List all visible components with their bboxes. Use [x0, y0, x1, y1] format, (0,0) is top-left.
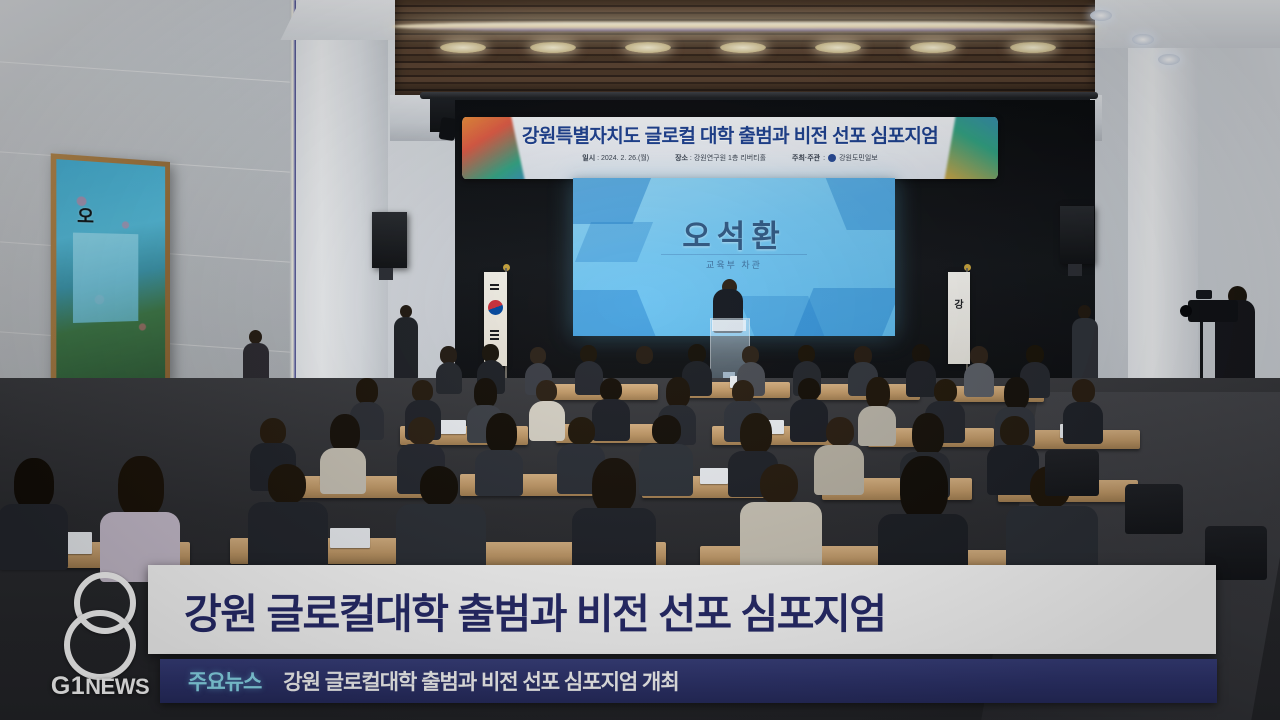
- ticker-headline: 강원 글로컬대학 출범과 비전 선포 심포지엄 개최: [283, 666, 678, 696]
- downlight-row: [420, 42, 1080, 56]
- channel-number-8-icon: [56, 572, 142, 670]
- artwork-light-panel: [72, 232, 138, 322]
- screen-divider: [661, 254, 807, 255]
- banner-date-value: 2024. 2. 26.(월): [601, 155, 649, 162]
- taeguk-icon: [488, 300, 503, 315]
- banner-date: 일시 : 2024. 2. 26.(월): [582, 153, 649, 163]
- ticker-category-label: 주요뉴스: [160, 666, 283, 696]
- wordmark-g1: G1: [51, 672, 85, 700]
- lectern-nameplate: [712, 320, 746, 331]
- banner-place: 장소 : 강원연구원 1층 리버티홀: [675, 153, 766, 163]
- ceiling-spotlights-right: [1080, 8, 1280, 68]
- audience-people-row-front: [0, 452, 1100, 582]
- broadcast-frame: 강원특별자치도 글로컬 대학 출범과 비전 선포 심포지엄 일시 : 2024.…: [0, 0, 1280, 720]
- wall-artwork-frame: 오: [51, 153, 170, 392]
- ceiling-cove-light: [392, 22, 1098, 31]
- banner-date-label: 일시: [582, 155, 595, 162]
- network-logo: G1NEWS: [44, 572, 156, 714]
- network-wordmark: G1NEWS: [44, 672, 156, 701]
- banner-host-label: 주최·주관: [792, 153, 820, 163]
- wall-speaker-left: [372, 212, 407, 268]
- banner-place-label: 장소: [675, 155, 688, 162]
- headline-lower-third: 강원 글로컬대학 출범과 비전 선포 심포지엄: [148, 565, 1216, 654]
- screen-speaker-role: 교육부 차관: [573, 258, 895, 271]
- wall-speaker-bracket-right: [1068, 264, 1082, 276]
- province-emblem-icon: 강: [952, 298, 966, 314]
- banner-host-value: 강원도민일보: [839, 153, 878, 163]
- wordmark-news: NEWS: [85, 674, 149, 699]
- host-logo-icon: [828, 154, 836, 162]
- headline-title: 강원 글로컬대학 출범과 비전 선포 심포지엄: [148, 580, 885, 640]
- screen-chevron: [573, 290, 657, 336]
- banner-place-value: 강원연구원 1층 리버티홀: [694, 155, 766, 162]
- camera-viewfinder: [1196, 290, 1212, 299]
- news-ticker-bar: 주요뉴스 강원 글로컬대학 출범과 비전 선포 심포지엄 개최: [160, 659, 1217, 703]
- stage-banner: 강원특별자치도 글로컬 대학 출범과 비전 선포 심포지엄 일시 : 2024.…: [462, 117, 998, 179]
- stage-banner-title: 강원특별자치도 글로컬 대학 출범과 비전 선포 심포지엄: [462, 121, 998, 148]
- camera-lens-icon: [1180, 305, 1192, 317]
- screen-speaker-name: 오석환: [573, 211, 895, 256]
- banner-host: 주최·주관 : 강원도민일보: [792, 153, 878, 163]
- wall-speaker-bracket-left: [379, 268, 393, 280]
- wall-speaker-right: [1060, 206, 1094, 264]
- stage-banner-subline: 일시 : 2024. 2. 26.(월) 장소 : 강원연구원 1층 리버티홀 …: [462, 153, 998, 163]
- artwork-glyph: 오: [72, 201, 98, 234]
- wall-artwork-canvas: 오: [56, 159, 165, 387]
- broadcast-camera: [1188, 300, 1238, 322]
